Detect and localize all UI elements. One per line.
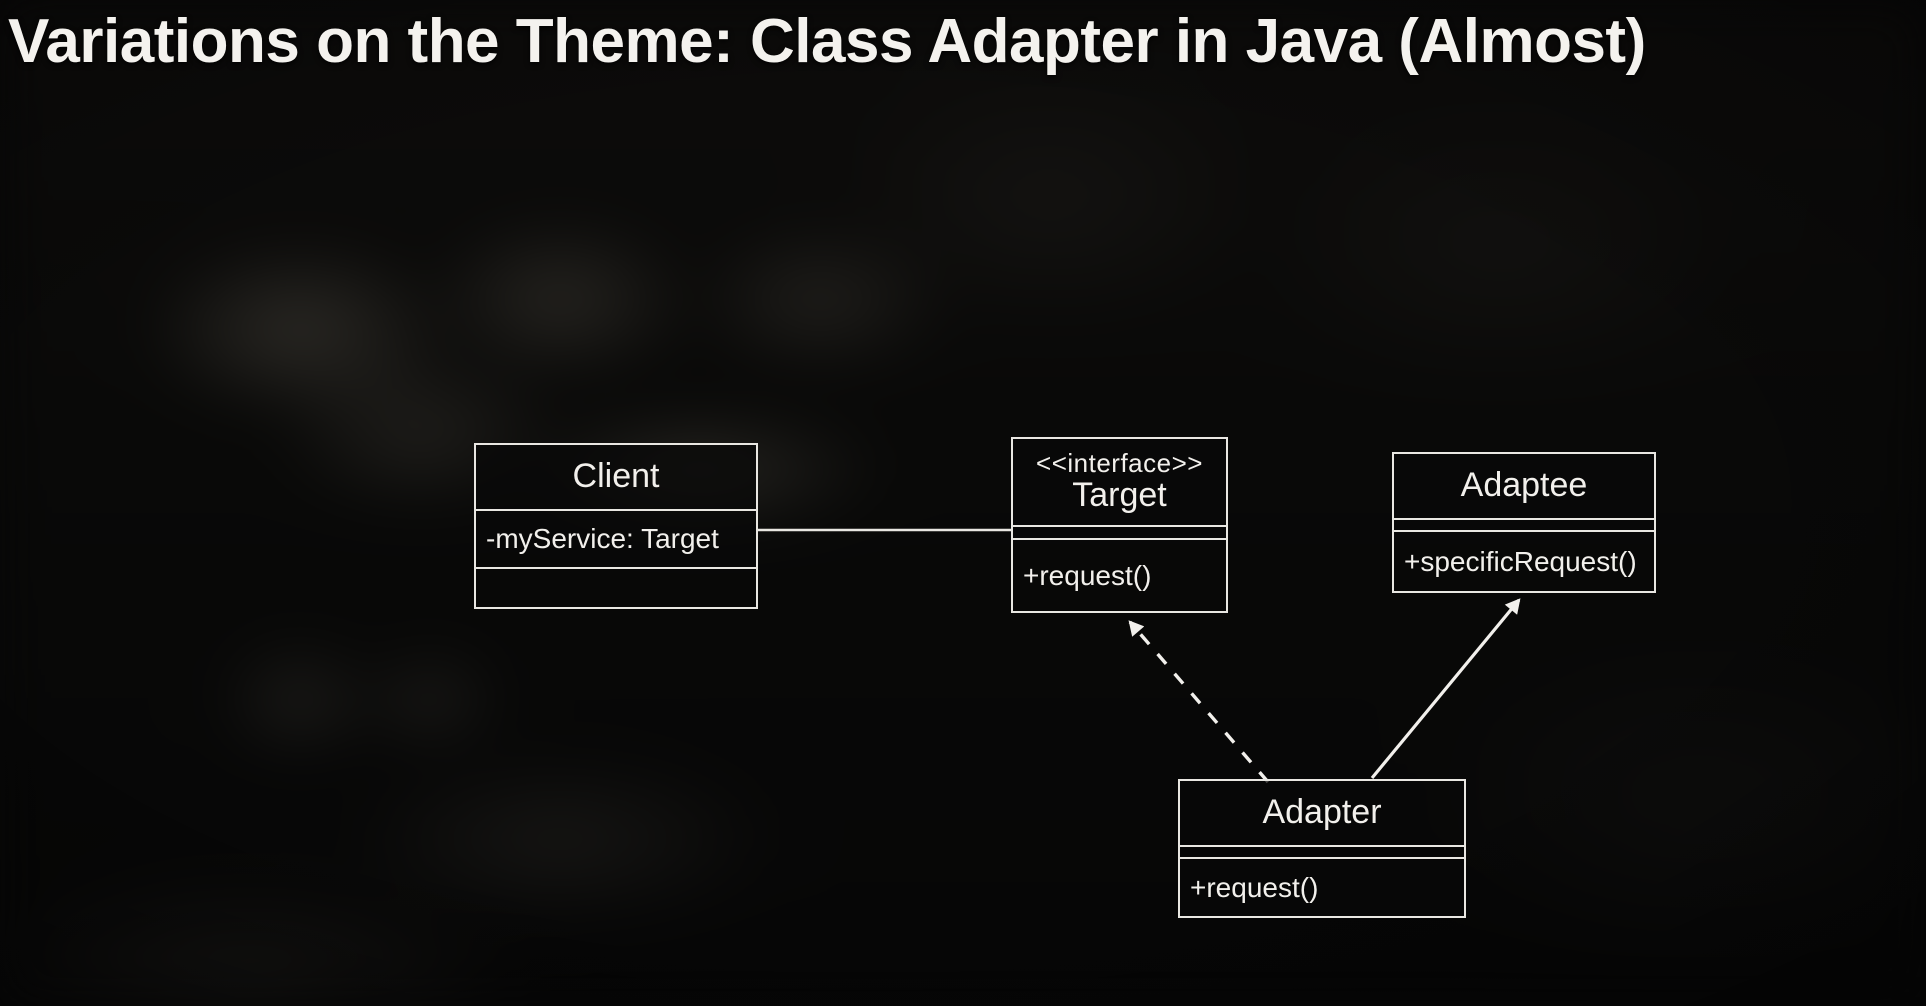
adaptee-operations-compartment: +specificRequest() [1394, 530, 1654, 591]
uml-class-adaptee[interactable]: Adaptee +specificRequest() [1392, 452, 1656, 593]
adaptee-attributes-compartment [1394, 518, 1654, 530]
adaptee-class-name: Adaptee [1461, 467, 1588, 504]
target-class-name: Target [1072, 477, 1167, 514]
target-stereotype: <<interface>> [1036, 450, 1203, 477]
client-operations-compartment [476, 567, 756, 611]
target-operations-compartment: +request() [1013, 538, 1226, 611]
adaptee-operation: +specificRequest() [1404, 546, 1637, 578]
generalization-adapter-adaptee [1372, 600, 1519, 778]
adapter-operation: +request() [1190, 872, 1318, 904]
target-name-compartment: <<interface>> Target [1013, 439, 1226, 525]
client-name-compartment: Client [476, 445, 756, 509]
target-attributes-compartment [1013, 525, 1226, 538]
adaptee-name-compartment: Adaptee [1394, 454, 1654, 518]
uml-class-client[interactable]: Client -myService: Target [474, 443, 758, 609]
adapter-name-compartment: Adapter [1180, 781, 1464, 845]
adapter-attributes-compartment [1180, 845, 1464, 857]
adapter-operations-compartment: +request() [1180, 857, 1464, 916]
client-attributes-compartment: -myService: Target [476, 509, 756, 567]
target-operation: +request() [1023, 560, 1151, 592]
client-class-name: Client [573, 458, 660, 495]
client-attribute: -myService: Target [486, 523, 719, 555]
adapter-class-name: Adapter [1262, 794, 1381, 831]
uml-class-target[interactable]: <<interface>> Target +request() [1011, 437, 1228, 613]
slide-canvas: Variations on the Theme: Class Adapter i… [0, 0, 1926, 1006]
uml-class-adapter[interactable]: Adapter +request() [1178, 779, 1466, 918]
realization-adapter-target [1130, 622, 1268, 782]
